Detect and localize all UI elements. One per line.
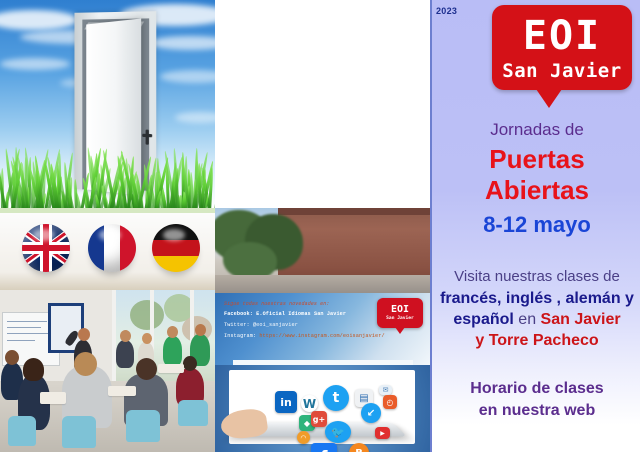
eoi-badge-small-main: EOI — [391, 305, 409, 315]
social-icons-tablet-image: in W t ▤ ✉ ◴ ◆ g+ ◠ 🐦 ↙ ▶ f B — [215, 365, 430, 452]
blogger-icon: B — [349, 443, 369, 452]
student-head — [183, 356, 197, 371]
student-head — [142, 333, 152, 344]
classroom-image — [0, 290, 215, 452]
eoi-badge-small-sub: San Javier — [386, 315, 414, 322]
twitter-label: Twitter: — [224, 322, 250, 328]
student-head — [120, 330, 131, 342]
visit-intro-text: Visita nuestras clases de — [432, 268, 640, 285]
info-panel: 2023 EOI San Javier Jornadas de Puertas … — [430, 0, 640, 452]
instagram-url[interactable]: https://www.instagram.com/eoisanjavier/ — [259, 333, 384, 339]
rss-feed-icon: ◠ — [297, 431, 310, 444]
twitter-value: @eoi_sanjavier — [253, 322, 298, 328]
cloud-shape — [175, 112, 215, 123]
puertas-heading: Puertas — [432, 144, 640, 175]
cloud-shape — [150, 36, 215, 50]
facebook-label: Facebook: — [224, 311, 253, 317]
chair — [126, 410, 160, 442]
twitter-alt-icon: ↙ — [361, 403, 381, 423]
grass-blade — [214, 175, 215, 208]
open-door-image — [0, 0, 215, 208]
student-head — [167, 326, 178, 338]
languages-text: francés, inglés , alemán y — [432, 288, 640, 309]
desk — [108, 386, 136, 396]
facebook-line: Facebook: E.Oficial Idiomas San Javier — [224, 311, 346, 317]
student-head — [195, 324, 206, 336]
school-building-image — [215, 208, 430, 293]
street-ground — [215, 275, 430, 293]
instagram-line: Instagram: https://www.instagram.com/eoi… — [224, 333, 385, 339]
desk — [158, 364, 184, 373]
year-label: 2023 — [436, 6, 457, 16]
san-javier-label: San Javier — [541, 311, 621, 328]
cloud-shape — [0, 58, 70, 70]
youtube-icon: ▶ — [375, 427, 390, 439]
cloud-shape — [160, 70, 215, 83]
torre-pacheco-label: y Torre Pacheco — [432, 330, 640, 351]
chair — [8, 416, 36, 446]
eoi-logo: EOI San Javier — [492, 5, 632, 90]
google-plus-icon: g+ — [311, 411, 327, 427]
cloud-shape — [0, 10, 78, 30]
instagram-label: Instagram: — [224, 333, 256, 339]
student-figure — [163, 336, 182, 366]
wordpress-icon: W — [301, 395, 318, 412]
social-intro-text: Sigue todas nuestras novedades en: — [224, 301, 329, 307]
twitter-line: Twitter: @eoi_sanjavier — [224, 322, 298, 328]
social-media-info-panel: Sigue todas nuestras novedades en: Faceb… — [215, 293, 430, 365]
facebook-value: E.Oficial Idiomas San Javier — [256, 311, 346, 317]
en-connector: en — [518, 311, 536, 328]
language-flag-spheres-image — [0, 208, 215, 290]
schedule-line-1: Horario de clases — [432, 378, 640, 400]
chair — [178, 400, 208, 426]
dates-label: 8-12 mayo — [432, 212, 640, 238]
student-figure — [116, 340, 134, 368]
germany-flag-sphere — [152, 224, 200, 272]
mail-icon: ✉ — [379, 385, 392, 395]
desk — [40, 392, 66, 404]
schedule-line-2: en nuestra web — [432, 400, 640, 422]
eoi-logo-sub: San Javier — [492, 61, 632, 81]
abiertas-heading: Abiertas — [432, 175, 640, 206]
spanish-location-text: español en San Javier — [432, 309, 640, 330]
chair — [62, 416, 96, 448]
spanish-label: español — [453, 311, 513, 328]
grass-foreground — [0, 140, 215, 208]
poster-root: Sigue todas nuestras novedades en: Faceb… — [0, 0, 640, 452]
student-head — [136, 358, 157, 380]
france-flag-sphere — [88, 224, 136, 272]
twitter-bird-icon: 🐦 — [325, 421, 351, 443]
eoi-badge-small: EOI San Javier — [377, 298, 423, 328]
image-collage: Sigue todas nuestras novedades en: Faceb… — [0, 0, 430, 452]
linkedin-icon: in — [275, 391, 297, 413]
teacher-head — [78, 328, 90, 341]
eoi-logo-main: EOI — [492, 5, 632, 61]
facebook-icon: f — [311, 443, 337, 452]
student-head — [74, 352, 97, 376]
uk-flag-sphere — [22, 224, 70, 272]
student-head — [23, 358, 44, 381]
roof-line — [278, 208, 430, 215]
image-top-strip — [0, 208, 215, 213]
twitter-icon: t — [323, 385, 349, 411]
student-head — [5, 350, 19, 365]
jornadas-heading: Jornadas de — [432, 120, 640, 140]
rss-icon: ◴ — [383, 395, 397, 409]
